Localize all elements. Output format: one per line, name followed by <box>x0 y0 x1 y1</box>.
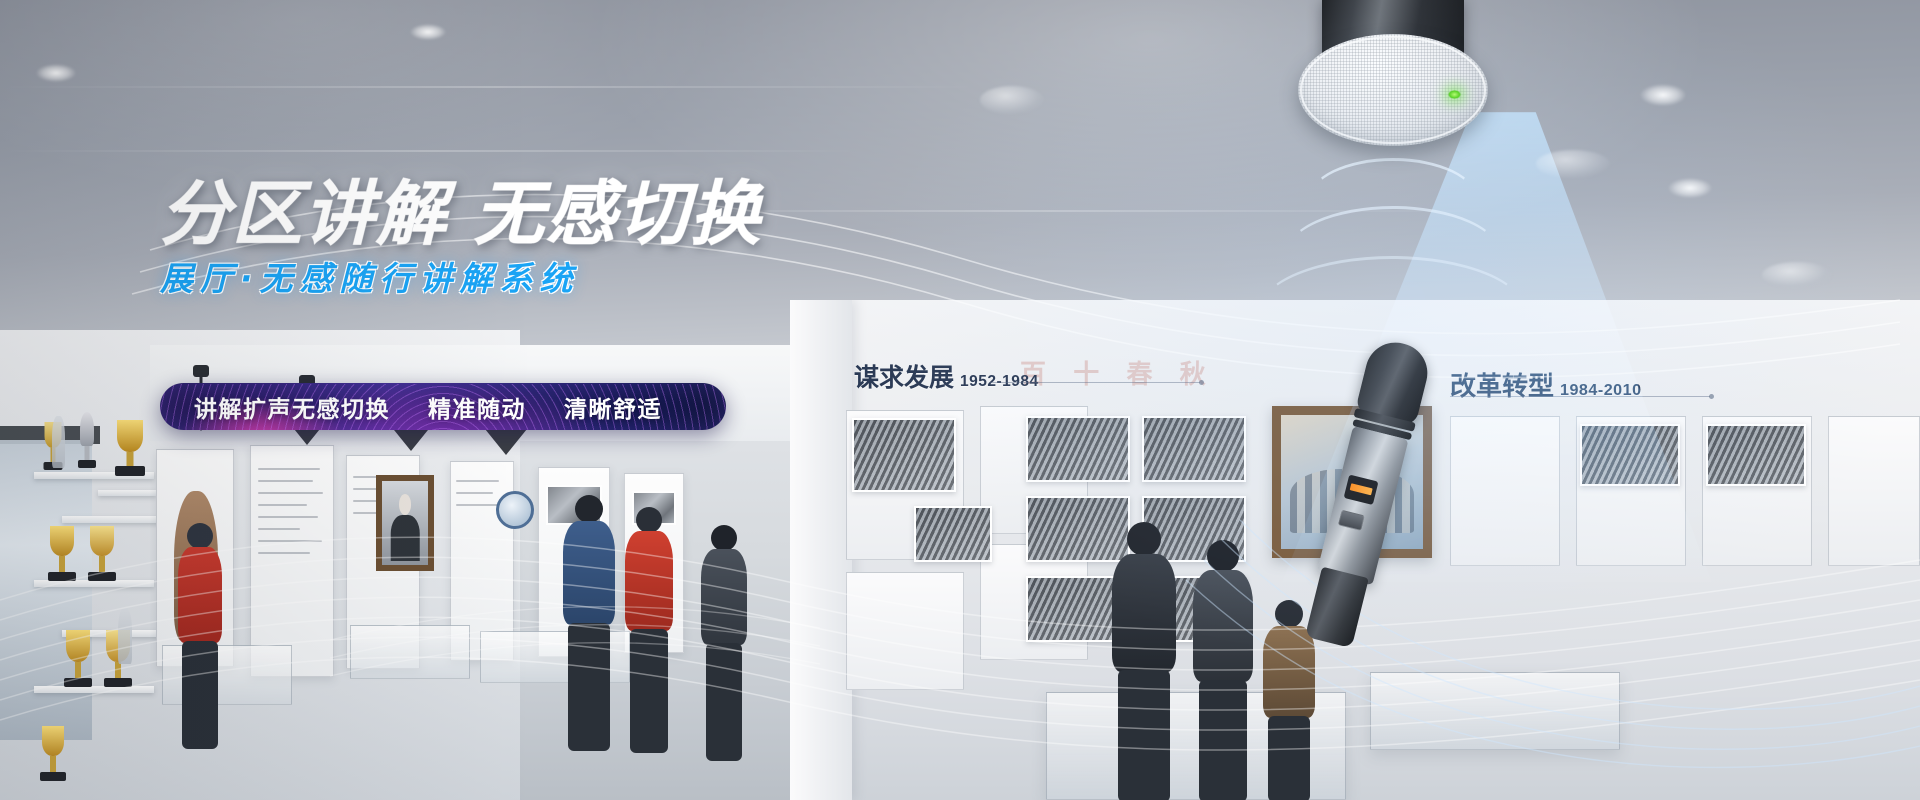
visitor <box>174 523 226 753</box>
archive-photo <box>852 418 956 492</box>
downlight <box>1668 178 1712 198</box>
visitor <box>1188 540 1258 800</box>
feature-list: 讲解扩声无感切换 精准随动 清晰舒适 <box>160 390 662 424</box>
section-title-text: 谋求发展 <box>854 364 954 392</box>
headline-part-1: 分区讲解 <box>160 173 448 255</box>
archive-photo <box>914 506 992 562</box>
banner-copy: 分区讲解无感切换 展厅·无感随行讲解系统 <box>160 176 800 300</box>
downlight <box>1640 84 1686 106</box>
downlight <box>36 64 76 82</box>
trophy-shelf <box>98 490 156 496</box>
feature-item-2: 精准随动 <box>428 390 526 424</box>
trophy <box>84 526 120 584</box>
speaker-led-indicator <box>1448 90 1461 99</box>
headline-part-2: 无感切换 <box>474 173 762 255</box>
microphone-handle <box>1305 567 1369 648</box>
display-vitrine <box>1370 672 1620 750</box>
visitor <box>560 495 618 755</box>
figurine <box>52 416 65 468</box>
trophy <box>36 726 70 784</box>
decorative-wall-text: 百 十 春 秋 <box>1020 354 1216 391</box>
subtitle: 展厅·无感随行讲解系统 <box>160 258 800 300</box>
visitor <box>622 507 676 757</box>
portrait-photo <box>376 475 434 571</box>
exhibit-board <box>1828 416 1920 566</box>
exhibit-section-title-1: 谋求发展1952-1984 <box>854 358 1039 394</box>
ceiling-seam <box>0 150 860 152</box>
microphone-body <box>1317 426 1409 585</box>
glass-door <box>0 440 92 740</box>
institution-emblem <box>496 491 534 529</box>
visitor <box>1108 522 1180 800</box>
archive-photo <box>1142 416 1246 482</box>
figurine <box>118 608 132 664</box>
trophy <box>60 630 96 690</box>
wall-column <box>790 300 852 800</box>
feature-item-1: 讲解扩声无感切换 <box>194 390 390 424</box>
trophy <box>110 420 150 478</box>
display-case <box>350 625 470 679</box>
ceiling-speaker <box>1298 0 1488 144</box>
trophy <box>74 412 100 474</box>
ceiling-seam <box>0 86 980 88</box>
promo-banner: 百 十 春 秋 谋求发展1952-1984 改 <box>0 0 1920 800</box>
trophy <box>44 526 80 584</box>
section-rule <box>990 382 1200 383</box>
archive-photo <box>1706 424 1806 486</box>
ceiling-vent <box>980 86 1044 114</box>
exhibit-panel <box>250 445 334 677</box>
headline: 分区讲解无感切换 <box>160 176 800 252</box>
ceiling-vent <box>1762 262 1832 288</box>
exhibit-board <box>846 572 964 690</box>
downlight <box>410 24 446 40</box>
visitor <box>698 525 750 765</box>
feature-pill: 讲解扩声无感切换 精准随动 清晰舒适 <box>160 383 726 430</box>
archive-photo <box>1026 416 1130 482</box>
feature-item-3: 清晰舒适 <box>564 390 662 424</box>
